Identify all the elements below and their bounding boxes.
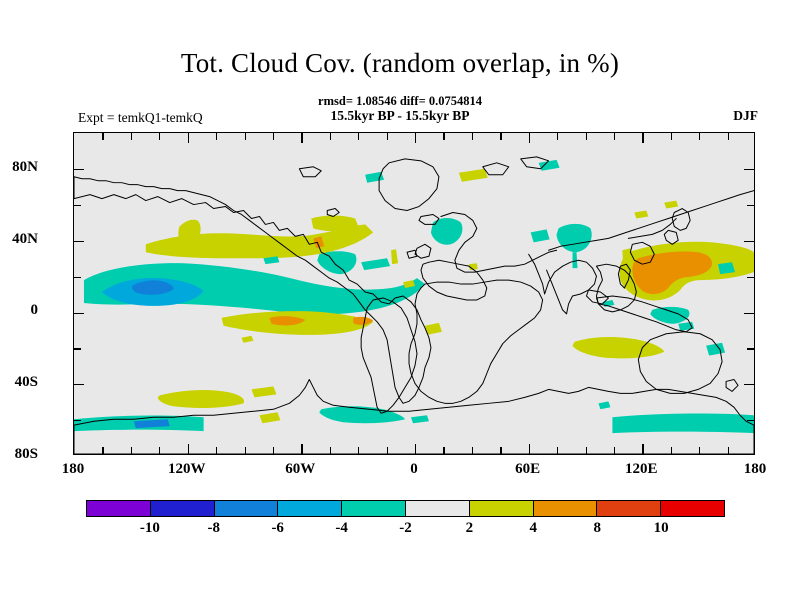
axis-label-lat-80S: 80S	[15, 446, 38, 463]
patch-baja-negative	[317, 251, 356, 274]
colorbar-label--6: -6	[271, 520, 284, 537]
southern-ocean-positive-region	[158, 390, 244, 408]
tick-lon-105W	[216, 447, 217, 454]
axis-label-lat-40N: 40N	[12, 231, 38, 248]
colorbar-segment-6	[405, 501, 469, 516]
coastline-india	[529, 254, 597, 314]
patch-tibet	[634, 211, 648, 219]
coastline-australia	[638, 332, 722, 394]
tick-lat-60N	[74, 205, 81, 206]
colorbar-label--8: -8	[208, 520, 221, 537]
tick-lon-150E	[699, 447, 700, 454]
antarctic-negative-patch	[411, 415, 429, 423]
tick-lon-90E-top	[586, 133, 587, 140]
tick-lat-0-right	[744, 313, 754, 314]
patch-svalbard	[459, 169, 488, 182]
tick-lat-20N	[74, 277, 81, 278]
coastline-china-coast	[628, 218, 676, 238]
tick-lon-15E-top	[443, 133, 444, 140]
tick-lon-45E-top	[500, 133, 501, 140]
tick-lon-165W	[102, 447, 103, 454]
tick-lat-20S-right	[747, 348, 754, 349]
colorbar-label-2: 2	[466, 520, 474, 537]
tick-lon-30E	[472, 447, 473, 454]
page-title: Tot. Cloud Cov. (random overlap, in %)	[0, 48, 800, 79]
tick-lat-60N-right	[747, 205, 754, 206]
tick-lat-40S-right	[744, 384, 754, 385]
tick-lat-20S	[74, 348, 81, 349]
tick-lon-75E-top	[557, 133, 558, 140]
period-label: 15.5kyr BP - 15.5kyr BP	[0, 108, 800, 124]
tick-lon-135W	[159, 447, 160, 454]
tick-lon-60W-top	[301, 133, 302, 143]
colorbar-segment-4	[277, 501, 341, 516]
colorbar-segment-8	[533, 501, 597, 516]
axis-label-lon-180W: 180	[62, 461, 85, 478]
axis-label-lon-120W: 120W	[168, 461, 206, 478]
tick-lon-75W-top	[273, 133, 274, 140]
figure-canvas: Tot. Cloud Cov. (random overlap, in %) r…	[0, 0, 800, 600]
tick-lon-120E-top	[642, 133, 643, 143]
axis-label-lon-60W: 60W	[285, 461, 315, 478]
tick-lon-45W	[330, 447, 331, 454]
tick-lon-105W-top	[216, 133, 217, 140]
tick-lon-75E	[557, 447, 558, 454]
tick-lon-135E	[671, 447, 672, 454]
season-label: DJF	[733, 108, 758, 124]
coastline-iceland	[419, 214, 439, 224]
tick-lon-120E	[642, 444, 643, 454]
coastlines	[74, 157, 754, 454]
tick-lon-30E-top	[472, 133, 473, 140]
colorbar	[86, 500, 725, 517]
north-pacific-positive-patch2	[311, 215, 359, 231]
tick-lon-0	[415, 444, 416, 454]
patch-spacific	[242, 336, 254, 343]
patch-japan	[664, 201, 678, 209]
tick-lon-30W	[358, 447, 359, 454]
coastline-africa	[409, 280, 543, 403]
tick-lat-60S	[74, 420, 81, 421]
tick-lon-150W	[131, 447, 132, 454]
axis-label-lon-60E: 60E	[515, 461, 540, 478]
tick-lat-40S	[74, 384, 84, 385]
tick-lon-15E	[443, 447, 444, 454]
colorbar-segment-9	[596, 501, 660, 516]
patch-mexico-negative	[361, 258, 390, 270]
southern-ocean-positive2	[251, 386, 276, 397]
tick-lon-60E	[529, 444, 530, 454]
colorbar-segment-3	[214, 501, 278, 516]
axis-label-lat-0: 0	[31, 302, 39, 319]
axis-label-lat-80N: 80N	[12, 159, 38, 176]
patch-siberia-arctic	[539, 160, 560, 171]
tick-lat-20N-right	[747, 277, 754, 278]
coastline-greenland	[379, 159, 439, 211]
axis-label-lon-0: 0	[410, 461, 418, 478]
tick-lat-0	[74, 313, 84, 314]
tick-lat-60S-right	[747, 420, 754, 421]
map-plot-area	[73, 132, 755, 455]
tick-lon-120W	[188, 444, 189, 454]
arabian-sea-negative-region	[531, 229, 550, 242]
colorbar-label-10: 10	[654, 520, 669, 537]
tick-lon-45E	[500, 447, 501, 454]
tick-lon-150W-top	[131, 133, 132, 140]
coastline-japan-south	[664, 230, 678, 244]
tick-lon-75W	[273, 447, 274, 454]
tick-lat-40N-right	[744, 241, 754, 242]
colorbar-segment-1	[87, 501, 150, 516]
coastline-new-zealand	[726, 379, 738, 391]
bay-of-bengal-negative-region	[557, 224, 592, 252]
tick-lon-165E-top	[728, 133, 729, 140]
tick-lon-120W-top	[188, 133, 189, 143]
colorbar-segment-2	[150, 501, 214, 516]
patch-nwatlantic	[391, 249, 398, 264]
antarctic-negative-patch2	[598, 401, 610, 409]
tick-lon-15W	[387, 447, 388, 454]
coastline-island-1	[327, 209, 339, 217]
colorbar-label--10: -10	[140, 520, 160, 537]
tick-lon-135W-top	[159, 133, 160, 140]
axis-label-lon-180E: 180	[744, 461, 767, 478]
tick-lon-165E	[728, 447, 729, 454]
antarctic-negative-indian	[612, 414, 754, 434]
tick-lon-90W-top	[245, 133, 246, 140]
axis-label-lon-120E: 120E	[625, 461, 658, 478]
tick-lon-60W	[301, 444, 302, 454]
tick-lon-90E	[586, 447, 587, 454]
tick-lon-30W-top	[358, 133, 359, 140]
southern-ocean-positive3	[259, 412, 280, 423]
tick-lon-165W-top	[102, 133, 103, 140]
axis-label-lat-40S: 40S	[15, 374, 38, 391]
colorbar-segment-10	[660, 501, 724, 516]
colorbar-label-8: 8	[593, 520, 601, 537]
tick-lon-15W-top	[387, 133, 388, 140]
tick-lon-150E-top	[699, 133, 700, 140]
tick-lat-40N	[74, 241, 84, 242]
tick-lon-105E-top	[614, 133, 615, 140]
colorbar-label--2: -2	[399, 520, 412, 537]
colorbar-label--4: -4	[335, 520, 348, 537]
colorbar-segment-5	[341, 501, 405, 516]
tick-lat-80N	[74, 169, 84, 170]
statistics-annotation: rmsd= 1.08546 diff= 0.0754814	[0, 94, 800, 109]
micronesia-negative	[718, 262, 735, 274]
colorbar-label-4: 4	[530, 520, 538, 537]
tick-lon-135E-top	[671, 133, 672, 140]
tick-lon-105E	[614, 447, 615, 454]
norway-negative-region	[431, 218, 462, 245]
tick-lon-0-top	[415, 133, 416, 143]
world-map-svg	[74, 133, 754, 454]
tick-lon-45W-top	[330, 133, 331, 140]
colorbar-segment-7	[469, 501, 533, 516]
tick-lon-60E-top	[529, 133, 530, 143]
coastline-svalbard	[483, 163, 509, 175]
tick-lat-80N-right	[744, 169, 754, 170]
coastline-island-arctic	[299, 167, 321, 177]
tick-lon-90W	[245, 447, 246, 454]
